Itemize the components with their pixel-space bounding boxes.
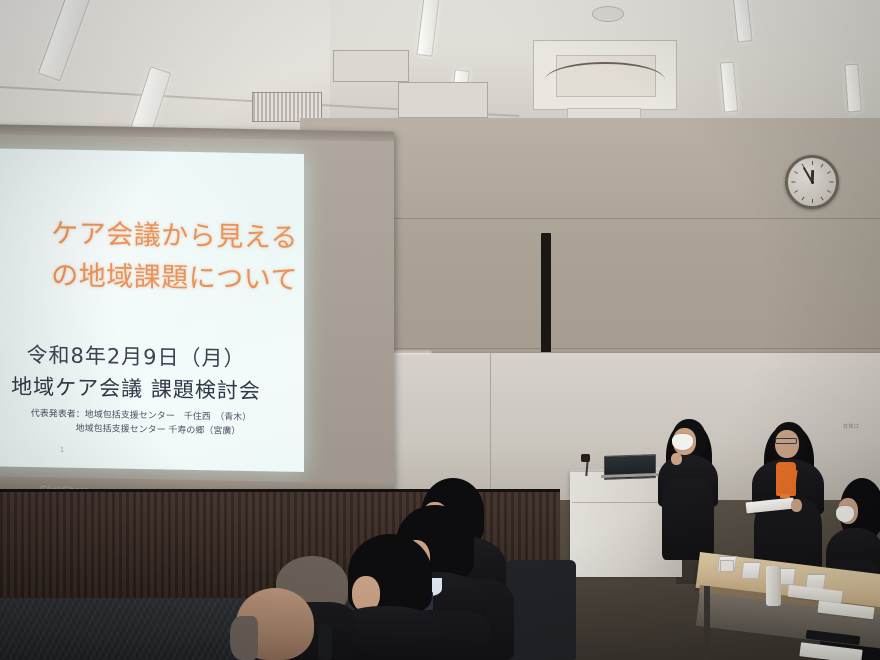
light-strip-7: [844, 64, 861, 113]
speaker-face-mask: [672, 434, 693, 450]
ceiling-speaker: [592, 6, 624, 22]
slide-subtitle: 地域ケア会議 課題検討会: [0, 370, 288, 406]
light-strip-3: [416, 0, 439, 57]
conference-room-scene: 非常口 ケア会議から見える の地域課題について 令和8年2月9日（月） 地域ケア…: [0, 0, 880, 660]
name-placard-2: [741, 562, 761, 579]
slide-title-line1: ケア会議から見える: [51, 218, 298, 254]
paper-cup: [766, 566, 781, 606]
projected-slide: ケア会議から見える の地域課題について 令和8年2月9日（月） 地域ケア会議 課…: [0, 148, 304, 472]
screen-rail-strip: [541, 233, 551, 368]
ceiling: [0, 0, 880, 132]
slide-date: 令和8年2月9日（月）: [0, 338, 288, 374]
assistant-glasses: [775, 438, 797, 444]
speaker-hand: [671, 453, 682, 465]
clock-center-pin: [811, 181, 814, 184]
head-table-leg: [704, 586, 710, 660]
attendee-right-mask: [836, 506, 854, 522]
vent-panel-center: [333, 50, 409, 82]
light-strip-5: [733, 0, 753, 43]
light-strip-6: [720, 61, 738, 112]
whiteboard-divider: [490, 353, 491, 503]
slide-title-line2: の地域課題について: [0, 254, 298, 302]
slide-page-number: 1: [60, 447, 64, 454]
assistant-hand-right: [791, 499, 802, 512]
slide-title: ケア会議から見える の地域課題について: [0, 212, 298, 302]
exit-sign-mark: 非常口: [843, 423, 859, 430]
speaker-torso: [662, 478, 714, 560]
gooseneck-microphone: [581, 454, 590, 462]
assistant-face: [775, 430, 799, 458]
chair-frame-left: [318, 624, 332, 660]
wall-clock: [785, 155, 839, 209]
vent-panel-right: [398, 82, 488, 118]
projection-screen: ケア会議から見える の地域課題について 令和8年2月9日（月） 地域ケア会議 課…: [0, 124, 394, 501]
slide-presenters: 代表発表者：地域包括支援センター 千住西 （青木） 地域包括支援センター 千寿の…: [0, 406, 290, 439]
attendee-1-side-hair: [230, 616, 258, 660]
chair-back-right: [506, 560, 576, 660]
table-small-item: [720, 560, 734, 572]
